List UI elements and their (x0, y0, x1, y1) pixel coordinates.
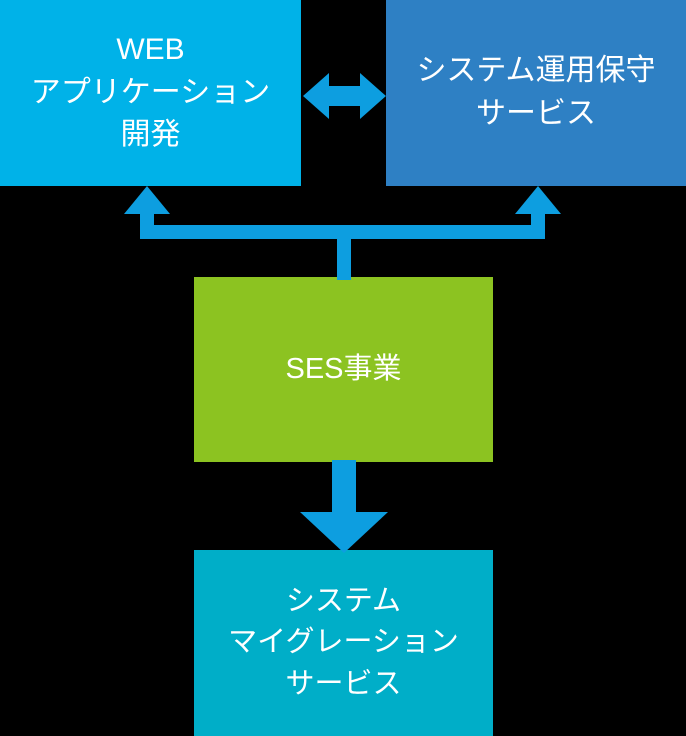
box-system-migration-label: システム マイグレーション サービス (228, 581, 459, 705)
box-system-migration[interactable]: システム マイグレーション サービス (194, 550, 493, 736)
box-web-app-development-label: WEB アプリケーション 開発 (31, 29, 270, 157)
arrow-ses-to-top-boxes-icon (124, 186, 561, 280)
box-ses-business[interactable]: SES事業 (194, 277, 493, 462)
arrow-ses-to-migration-icon (300, 460, 388, 553)
diagram-canvas: WEB アプリケーション 開発 システム運用保守 サービス SES事業 システム… (0, 0, 686, 736)
box-web-app-development[interactable]: WEB アプリケーション 開発 (0, 0, 301, 186)
box-ses-business-label: SES事業 (285, 349, 401, 390)
box-system-ops-maintenance-label: システム運用保守 サービス (416, 50, 655, 135)
double-arrow-web-to-ops-icon (303, 73, 386, 119)
box-system-ops-maintenance[interactable]: システム運用保守 サービス (386, 0, 686, 186)
